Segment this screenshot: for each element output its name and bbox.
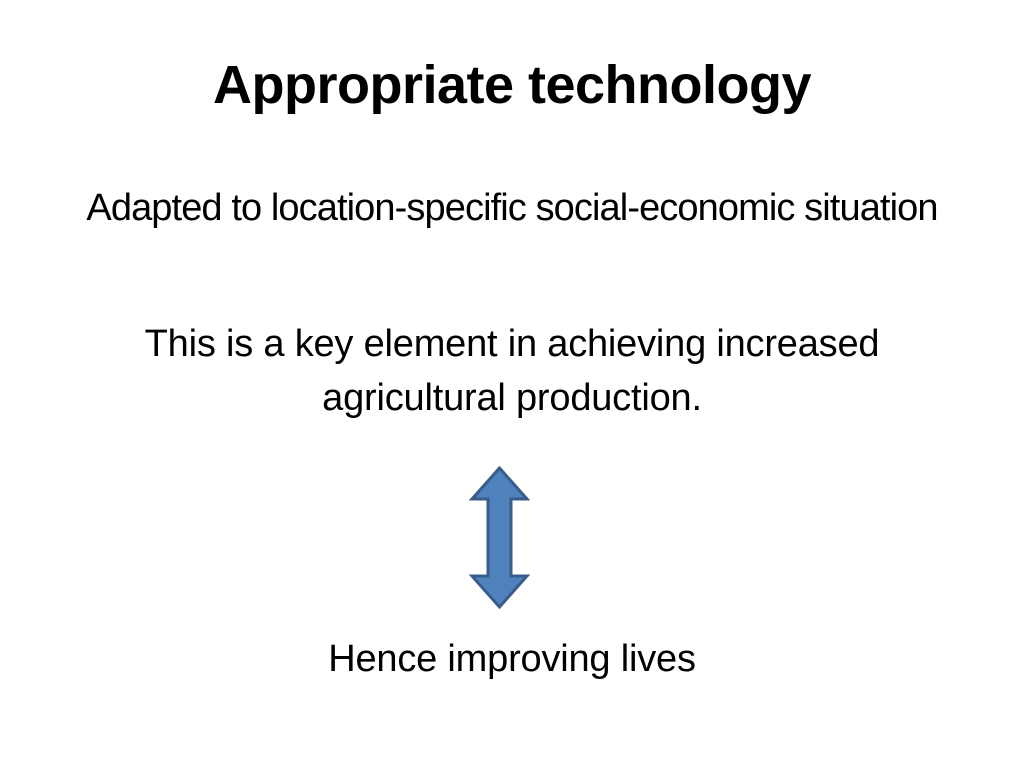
double-headed-vertical-arrow-icon — [469, 466, 530, 609]
arrow-polygon — [472, 468, 527, 607]
slide-body-text: This is a key element in achieving incre… — [112, 318, 912, 426]
arrow-svg — [469, 466, 530, 609]
page-title: Appropriate technology — [0, 56, 1024, 115]
slide-footer-text: Hence improving lives — [0, 636, 1024, 684]
slide-canvas: Appropriate technology Adapted to locati… — [0, 0, 1024, 768]
slide-subtitle: Adapted to location-specific social-econ… — [0, 185, 1024, 233]
